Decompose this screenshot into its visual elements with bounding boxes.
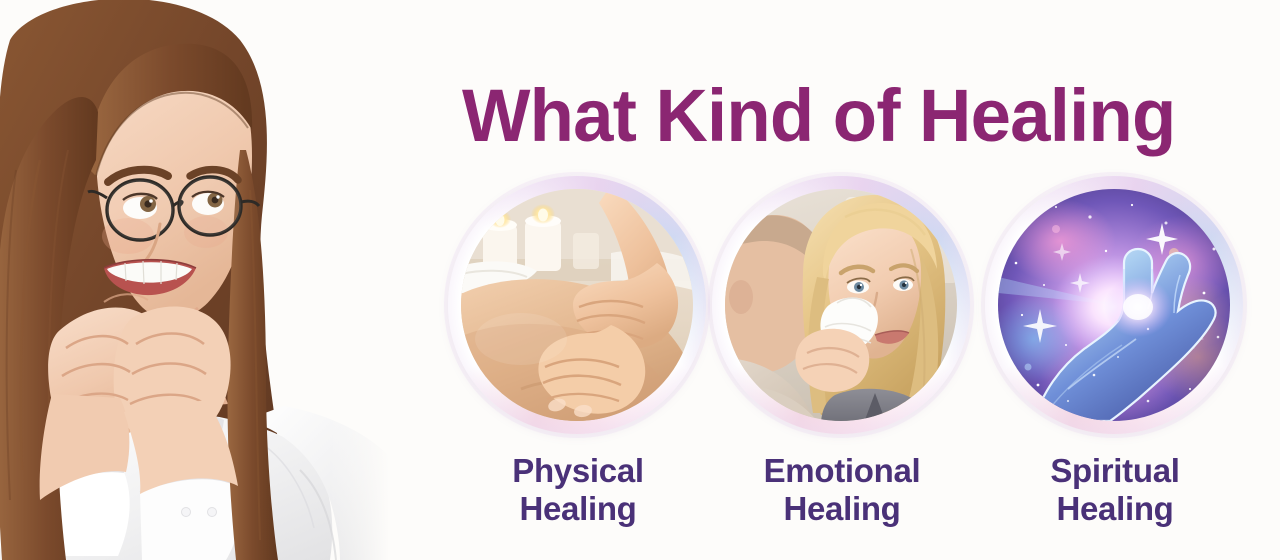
emotional-illustration bbox=[725, 189, 957, 421]
massage-therapy-photo bbox=[461, 189, 693, 421]
circle-ring-spiritual bbox=[985, 176, 1243, 434]
healing-types-list: Physical Healing bbox=[440, 176, 1260, 560]
portrait-photo bbox=[0, 0, 400, 560]
massage-illustration bbox=[461, 189, 693, 421]
card-label-line1: Physical bbox=[512, 452, 644, 489]
card-label-spiritual: Spiritual Healing bbox=[985, 452, 1245, 528]
card-label-line1: Emotional bbox=[764, 452, 921, 489]
card-label-line2: Healing bbox=[985, 490, 1245, 528]
card-label-line1: Spiritual bbox=[1050, 452, 1179, 489]
circle-ring-emotional bbox=[712, 176, 970, 434]
card-emotional-healing[interactable]: Emotional Healing bbox=[712, 176, 972, 528]
portrait-fade-edge bbox=[330, 0, 400, 560]
page-title: What Kind of Healing bbox=[462, 76, 1176, 156]
card-physical-healing[interactable]: Physical Healing bbox=[448, 176, 708, 528]
healing-banner: What Kind of Healing bbox=[0, 0, 1280, 560]
cuff-right bbox=[140, 478, 240, 560]
cosmic-hand-illustration bbox=[998, 189, 1230, 421]
card-label-line2: Healing bbox=[448, 490, 708, 528]
card-label-physical: Physical Healing bbox=[448, 452, 708, 528]
ear bbox=[729, 280, 753, 314]
circle-ring-physical bbox=[448, 176, 706, 434]
card-spiritual-healing[interactable]: Spiritual Healing bbox=[985, 176, 1245, 528]
spiritual-illustration bbox=[998, 189, 1230, 421]
card-label-emotional: Emotional Healing bbox=[712, 452, 972, 528]
comforting-woman-photo bbox=[725, 189, 957, 421]
woman-hand bbox=[795, 329, 869, 392]
card-label-line2: Healing bbox=[712, 490, 972, 528]
